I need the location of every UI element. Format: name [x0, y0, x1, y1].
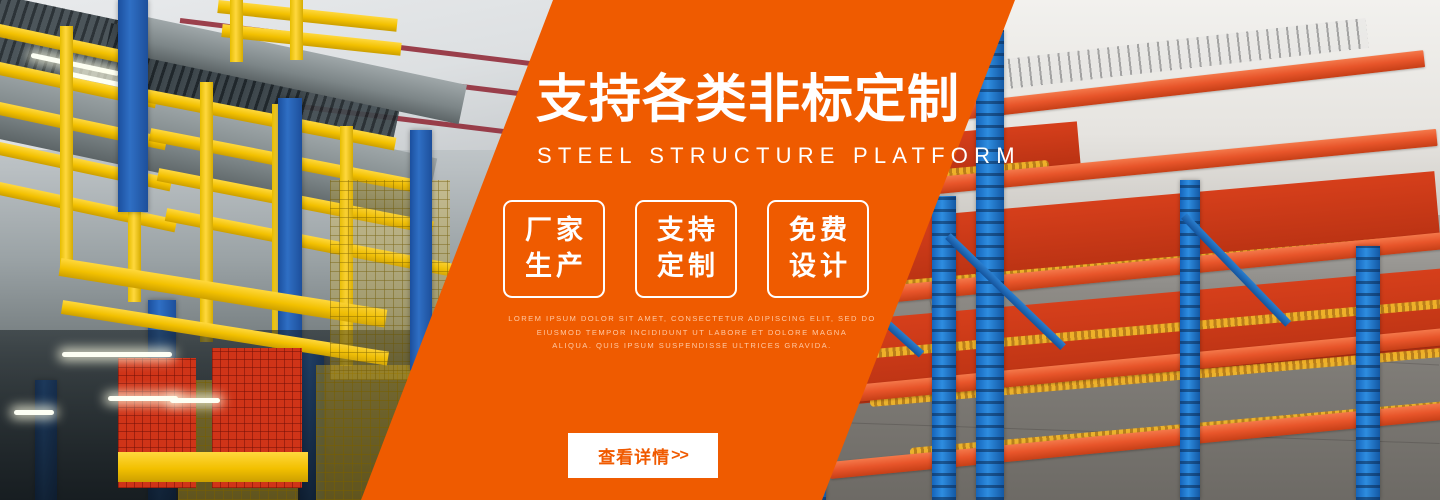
feature-badge-list: 厂家 生产 支持 定制 免费 设计 — [503, 200, 869, 298]
badge-line-2: 生产 — [521, 249, 587, 285]
description-line-3: ALIQUA. QUIS IPSUM SUSPENDISSE ULTRICES … — [432, 339, 952, 353]
badge-manufacturer[interactable]: 厂家 生产 — [503, 200, 605, 298]
badge-line-1: 厂家 — [521, 213, 587, 249]
badge-customization[interactable]: 支持 定制 — [635, 200, 737, 298]
badge-line-1: 免费 — [785, 213, 851, 249]
badge-free-design[interactable]: 免费 设计 — [767, 200, 869, 298]
page-title: 支持各类非标定制 — [536, 74, 960, 126]
badge-line-1: 支持 — [653, 213, 719, 249]
view-details-label: 查看详情 — [598, 443, 670, 468]
view-details-button[interactable]: 查看详情 >> — [568, 433, 718, 478]
description-line-2: EIUSMOD TEMPOR INCIDIDUNT UT LABORE ET D… — [432, 326, 952, 340]
description-text: LOREM IPSUM DOLOR SIT AMET, CONSECTETUR … — [432, 312, 952, 353]
double-chevron-right-icon: >> — [671, 447, 688, 465]
banner-content: 支持各类非标定制 STEEL STRUCTURE PLATFORM 厂家 生产 … — [0, 0, 1440, 500]
subtitle: STEEL STRUCTURE PLATFORM — [537, 145, 1021, 167]
badge-line-2: 定制 — [653, 249, 719, 285]
description-line-1: LOREM IPSUM DOLOR SIT AMET, CONSECTETUR … — [432, 312, 952, 326]
badge-line-2: 设计 — [785, 249, 851, 285]
promo-banner: 支持各类非标定制 STEEL STRUCTURE PLATFORM 厂家 生产 … — [0, 0, 1440, 500]
